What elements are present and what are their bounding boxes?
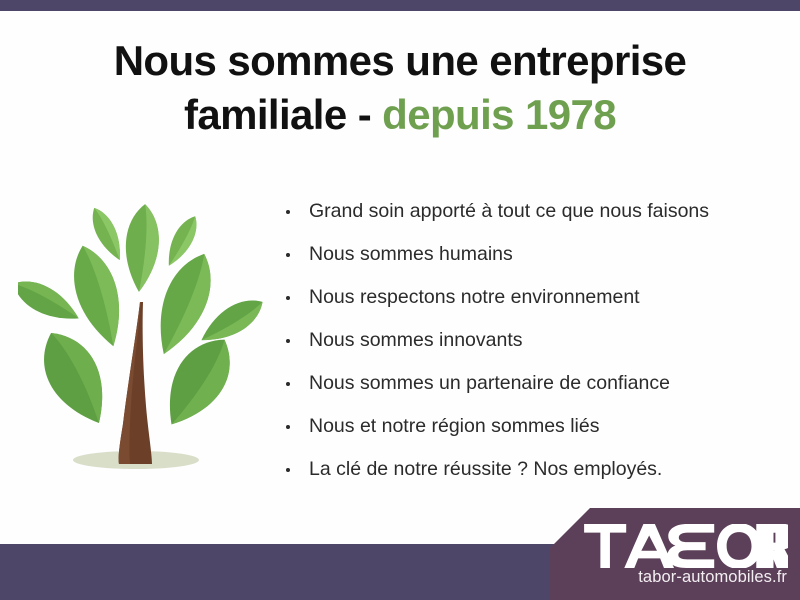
list-item-label: Grand soin apporté à tout ce que nous fa… — [309, 200, 709, 222]
list-item-label: Nous sommes innovants — [309, 329, 523, 351]
headline-line-2-plain: familiale - — [184, 91, 382, 138]
value-bullet-list: Grand soin apporté à tout ce que nous fa… — [283, 190, 783, 491]
tabor-wordmark — [550, 524, 788, 564]
bullet-dot-icon — [286, 253, 290, 257]
list-item-label: Nous sommes humains — [309, 243, 513, 265]
list-item: Nous sommes innovants — [283, 319, 783, 362]
list-item-label: La clé de notre réussite ? Nos employés. — [309, 458, 662, 480]
headline-line-1: Nous sommes une entreprise — [0, 34, 800, 88]
bullet-dot-icon — [286, 296, 290, 300]
list-item: Grand soin apporté à tout ce que nous fa… — [283, 190, 783, 233]
tree-illustration — [18, 186, 268, 486]
bullet-dot-icon — [286, 468, 290, 472]
headline-line-2: familiale - depuis 1978 — [0, 88, 800, 142]
list-item-label: Nous et notre région sommes liés — [309, 415, 599, 437]
list-item: La clé de notre réussite ? Nos employés. — [283, 448, 783, 491]
list-item: Nous et notre région sommes liés — [283, 405, 783, 448]
brand-url[interactable]: tabor-automobiles.fr — [550, 568, 787, 587]
top-accent-bar — [0, 0, 800, 11]
bullet-dot-icon — [286, 382, 290, 386]
bullet-dot-icon — [286, 425, 290, 429]
list-item: Nous respectons notre environnement — [283, 276, 783, 319]
slide-canvas: Nous sommes une entreprise familiale - d… — [0, 0, 800, 600]
headline-accent: depuis 1978 — [382, 91, 616, 138]
bullet-dot-icon — [286, 339, 290, 343]
list-item-label: Nous respectons notre environnement — [309, 286, 640, 308]
bullet-dot-icon — [286, 210, 290, 214]
list-item: Nous sommes un partenaire de confiance — [283, 362, 783, 405]
list-item: Nous sommes humains — [283, 233, 783, 276]
list-item-label: Nous sommes un partenaire de confiance — [309, 372, 670, 394]
page-title: Nous sommes une entreprise familiale - d… — [0, 34, 800, 142]
brand-logo-panel[interactable]: tabor-automobiles.fr — [550, 508, 800, 600]
